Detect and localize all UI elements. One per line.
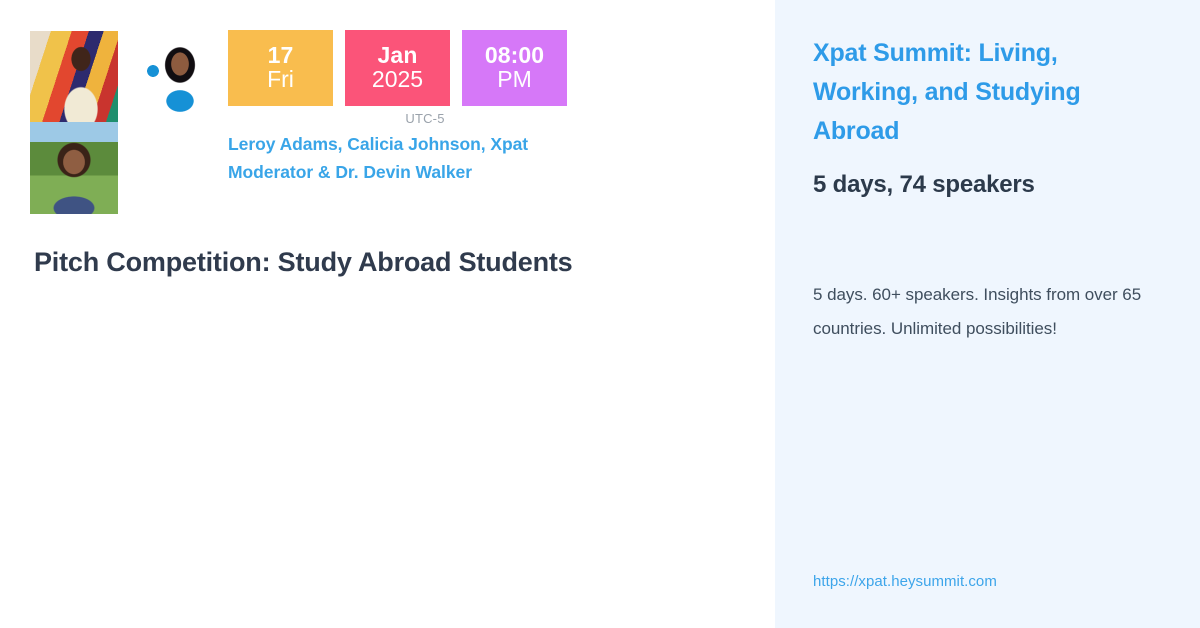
date-badge-day: 17 Fri bbox=[228, 30, 333, 106]
talk-title: Pitch Competition: Study Abroad Students bbox=[34, 240, 594, 285]
badge-day-number: 17 bbox=[268, 44, 294, 68]
badge-time-meridiem: PM bbox=[497, 68, 532, 92]
summit-stats: 5 days, 74 speakers bbox=[813, 168, 1162, 202]
event-when-block: 17 Fri Jan 2025 08:00 PM UTC-5 Leroy Ada… bbox=[220, 30, 628, 187]
date-badge-time: 08:00 PM bbox=[462, 30, 567, 106]
summit-url-link[interactable]: https://xpat.heysummit.com bbox=[813, 573, 997, 590]
date-badge-month: Jan 2025 bbox=[345, 30, 450, 106]
badge-month-year: 2025 bbox=[372, 68, 423, 92]
summit-description: 5 days. 60+ speakers. Insights from over… bbox=[813, 278, 1148, 346]
badge-time-clock: 08:00 bbox=[485, 44, 544, 68]
event-header: 17 Fri Jan 2025 08:00 PM UTC-5 Leroy Ada… bbox=[28, 22, 628, 216]
badge-month-name: Jan bbox=[378, 44, 418, 68]
summit-title: Xpat Summit: Living, Working, and Studyi… bbox=[813, 34, 1158, 150]
speaker-photo-collage bbox=[28, 22, 220, 216]
speaker-photo-devin-walker bbox=[30, 122, 118, 214]
date-time-badges: 17 Fri Jan 2025 08:00 PM bbox=[228, 30, 628, 106]
badge-day-weekday: Fri bbox=[267, 68, 294, 92]
speaker-photo-calicia-johnson bbox=[136, 31, 224, 117]
speakers-list: Leroy Adams, Calicia Johnson, Xpat Moder… bbox=[228, 130, 584, 187]
timezone-label: UTC-5 bbox=[228, 111, 628, 126]
event-main-pane: 17 Fri Jan 2025 08:00 PM UTC-5 Leroy Ada… bbox=[0, 0, 775, 628]
event-social-card: 17 Fri Jan 2025 08:00 PM UTC-5 Leroy Ada… bbox=[0, 0, 1200, 628]
summit-sidebar: Xpat Summit: Living, Working, and Studyi… bbox=[775, 0, 1200, 628]
